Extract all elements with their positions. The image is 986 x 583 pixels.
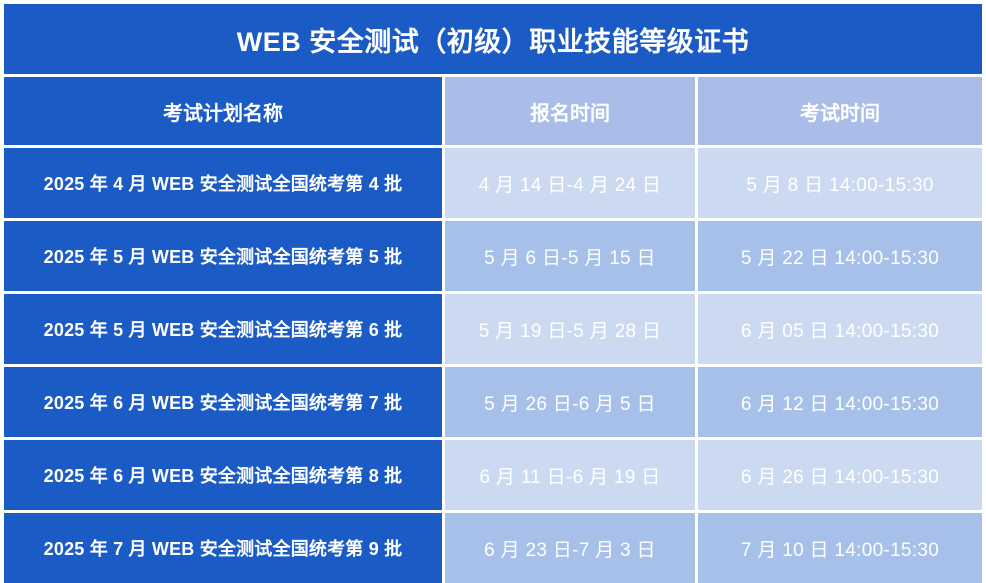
column-header-exam: 考试时间 — [698, 77, 986, 148]
cell-exam: 7 月 10 日 14:00-15:30 — [698, 513, 986, 583]
certificate-title: WEB 安全测试（初级）职业技能等级证书 — [0, 0, 986, 77]
cell-exam: 6 月 05 日 14:00-15:30 — [698, 294, 986, 367]
table-row: 2025 年 5 月 WEB 安全测试全国统考第 6 批 5 月 19 日-5 … — [0, 294, 986, 367]
column-header-plan: 考试计划名称 — [0, 77, 445, 148]
cell-exam: 6 月 12 日 14:00-15:30 — [698, 367, 986, 440]
cell-plan: 2025 年 6 月 WEB 安全测试全国统考第 7 批 — [0, 367, 445, 440]
table-row: 2025 年 7 月 WEB 安全测试全国统考第 9 批 6 月 23 日-7 … — [0, 513, 986, 583]
cell-registration: 6 月 11 日-6 月 19 日 — [445, 440, 698, 513]
cell-exam: 5 月 8 日 14:00-15:30 — [698, 148, 986, 221]
table-row: 2025 年 6 月 WEB 安全测试全国统考第 7 批 5 月 26 日-6 … — [0, 367, 986, 440]
exam-schedule-table: WEB 安全测试（初级）职业技能等级证书 考试计划名称 报名时间 考试时间 20… — [0, 0, 986, 583]
title-row: WEB 安全测试（初级）职业技能等级证书 — [0, 0, 986, 77]
cell-plan: 2025 年 4 月 WEB 安全测试全国统考第 4 批 — [0, 148, 445, 221]
column-header-registration: 报名时间 — [445, 77, 698, 148]
cell-exam: 5 月 22 日 14:00-15:30 — [698, 221, 986, 294]
cell-registration: 5 月 6 日-5 月 15 日 — [445, 221, 698, 294]
table-header-row: 考试计划名称 报名时间 考试时间 — [0, 77, 986, 148]
cell-plan: 2025 年 5 月 WEB 安全测试全国统考第 5 批 — [0, 221, 445, 294]
cell-registration: 5 月 26 日-6 月 5 日 — [445, 367, 698, 440]
table-row: 2025 年 5 月 WEB 安全测试全国统考第 5 批 5 月 6 日-5 月… — [0, 221, 986, 294]
cell-registration: 4 月 14 日-4 月 24 日 — [445, 148, 698, 221]
cell-exam: 6 月 26 日 14:00-15:30 — [698, 440, 986, 513]
cell-plan: 2025 年 7 月 WEB 安全测试全国统考第 9 批 — [0, 513, 445, 583]
cell-registration: 6 月 23 日-7 月 3 日 — [445, 513, 698, 583]
table-row: 2025 年 4 月 WEB 安全测试全国统考第 4 批 4 月 14 日-4 … — [0, 148, 986, 221]
cell-plan: 2025 年 6 月 WEB 安全测试全国统考第 8 批 — [0, 440, 445, 513]
cell-registration: 5 月 19 日-5 月 28 日 — [445, 294, 698, 367]
cell-plan: 2025 年 5 月 WEB 安全测试全国统考第 6 批 — [0, 294, 445, 367]
table-row: 2025 年 6 月 WEB 安全测试全国统考第 8 批 6 月 11 日-6 … — [0, 440, 986, 513]
